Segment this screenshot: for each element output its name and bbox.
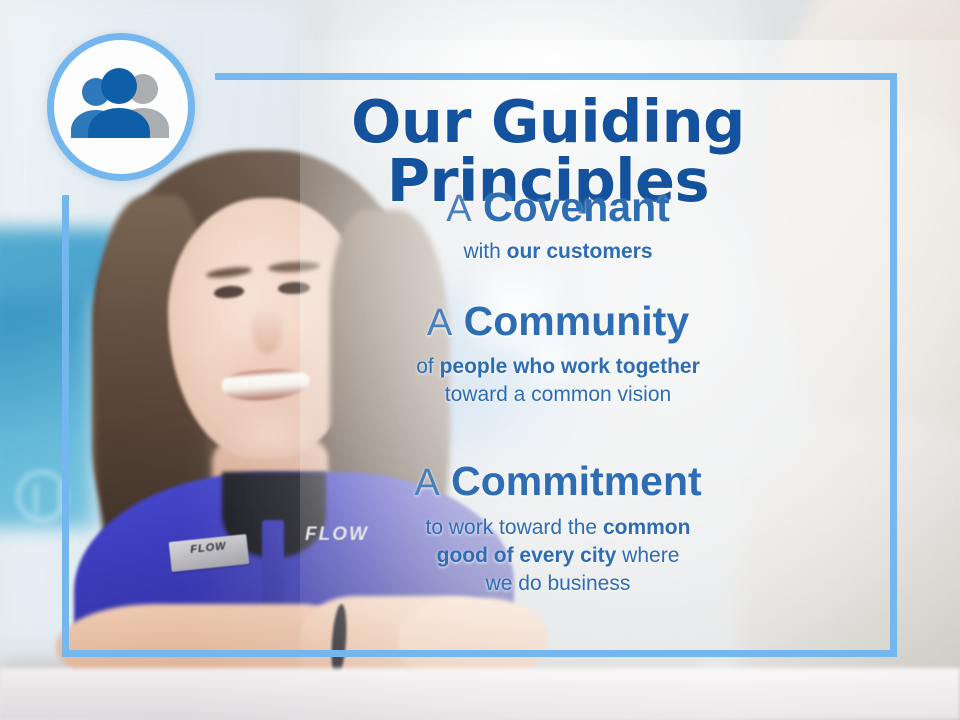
principle-covenant-headline: A Covenant: [238, 186, 878, 229]
principle-commitment: A Commitment to work toward the common g…: [238, 460, 878, 598]
people-group-badge: [47, 33, 195, 181]
frame-border-top: [215, 73, 897, 80]
white-desk-surface: [0, 668, 960, 720]
sub-line-1: to work toward the common: [238, 514, 878, 542]
principle-community-headline: A Community: [238, 300, 878, 343]
sub-line-2: good of every city where: [238, 542, 878, 570]
sub-bold-1: common: [603, 516, 691, 539]
sub-line-2: toward a common vision: [238, 381, 878, 409]
principle-community: A Community of people who work together …: [238, 300, 878, 409]
principle-covenant-subtext: with our customers: [238, 238, 878, 266]
sub-regular-1: to work toward the: [426, 516, 603, 539]
sub-regular-1: with: [463, 240, 506, 263]
sub-line-1: of people who work together: [238, 353, 878, 381]
employee-chin: [222, 408, 318, 462]
principle-word: Commitment: [451, 458, 702, 504]
article-a: A: [446, 188, 471, 230]
sub-regular-1: of: [416, 355, 439, 378]
people-group-icon: [69, 68, 173, 146]
principle-covenant: A Covenant with our customers: [238, 186, 878, 266]
frame-border-bottom: [62, 650, 897, 657]
article-a: A: [414, 462, 439, 504]
sub-regular-2: where: [616, 544, 679, 567]
sub-bold-2: good of every city: [437, 544, 617, 567]
article-a: A: [427, 302, 452, 344]
sub-bold-1: people who work together: [440, 355, 700, 378]
principle-commitment-subtext: to work toward the common good of every …: [238, 514, 878, 597]
blurred-car-logo: [16, 470, 68, 522]
principle-word: Community: [464, 298, 690, 344]
sub-line-3: we do business: [238, 570, 878, 598]
principle-word: Covenant: [483, 184, 670, 230]
sub-bold-1: our customers: [507, 240, 653, 263]
frame-border-left: [62, 195, 69, 657]
name-badge-logo-text: FLOW: [169, 538, 248, 558]
principle-commitment-headline: A Commitment: [238, 460, 878, 503]
principle-community-subtext: of people who work together toward a com…: [238, 353, 878, 408]
frame-border-right: [890, 73, 897, 657]
poster-canvas: FLOW FLOW Our: [0, 0, 960, 720]
